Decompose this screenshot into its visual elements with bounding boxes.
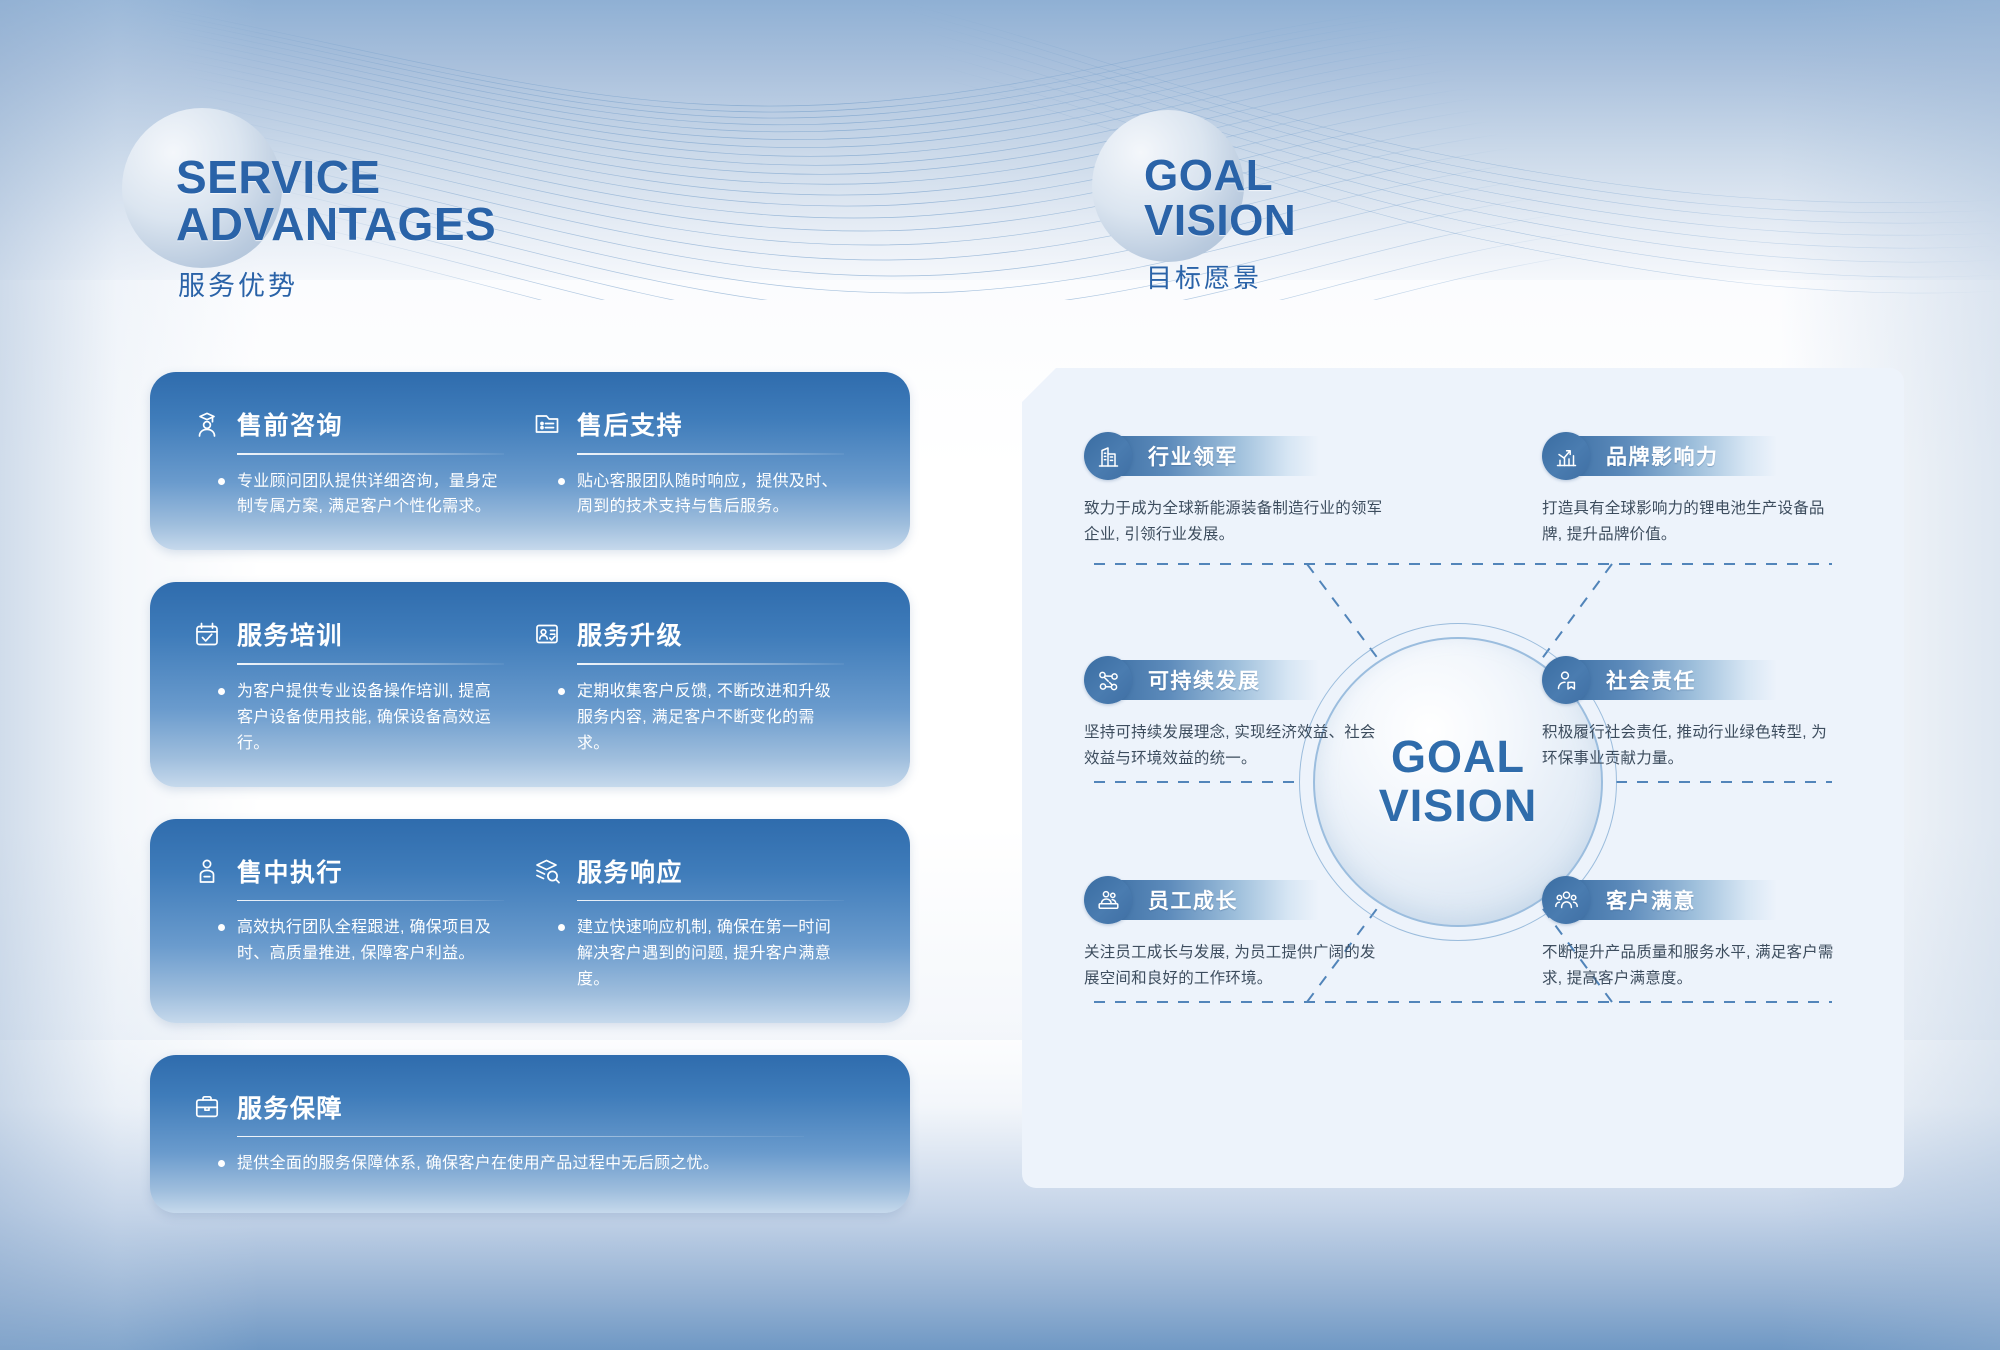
heading-english: SERVICE ADVANTAGES xyxy=(150,140,670,248)
vision-node-desc: 积极履行社会责任, 推动行业绿色转型, 为环保事业贡献力量。 xyxy=(1542,720,1842,772)
title-underline xyxy=(237,1136,804,1138)
service-item-title: 售中执行 xyxy=(237,853,343,889)
service-item-header: 服务升级 xyxy=(530,616,844,652)
id-card-check-icon xyxy=(530,617,564,651)
bullet-dot xyxy=(218,478,225,485)
goal-vision-panel: GOAL VISION 行业领军 致力于成为全球新能源装备制造行业的领军 xyxy=(1022,368,1904,1188)
vision-node-desc: 致力于成为全球新能源装备制造行业的领军企业, 引领行业发展。 xyxy=(1084,496,1384,548)
service-item-body: 建立快速响应机制, 确保在第一时间解决客户遇到的问题, 提升客户满意度。 xyxy=(530,915,844,993)
service-item-title: 服务升级 xyxy=(577,616,683,652)
heading-en-line1: SERVICE xyxy=(176,151,381,203)
service-item-body: 贴心客服团队随时响应，提供及时、周到的技术支持与售后服务。 xyxy=(530,469,844,521)
title-underline xyxy=(577,900,844,902)
vision-node-desc: 关注员工成长与发展, 为员工提供广阔的发展空间和良好的工作环境。 xyxy=(1084,940,1384,992)
title-underline xyxy=(577,453,844,455)
service-item-title: 售前咨询 xyxy=(237,406,343,442)
service-item-text: 提供全面的服务保障体系, 确保客户在使用产品过程中无后顾之忧。 xyxy=(237,1151,719,1177)
core-line1: GOAL xyxy=(1391,733,1525,782)
service-item[interactable]: 服务保障 提供全面的服务保障体系, 确保客户在使用产品过程中无后顾之忧。 xyxy=(190,1089,870,1177)
service-item-title: 服务保障 xyxy=(237,1089,343,1125)
vision-node-label: 员工成长 xyxy=(1148,885,1238,915)
vision-node-sustainable-development[interactable]: 可持续发展 坚持可持续发展理念, 实现经济效益、社会效益与环境效益的统一。 xyxy=(1084,656,1384,772)
briefcase-icon xyxy=(190,1090,224,1124)
service-item-header: 服务响应 xyxy=(530,853,844,889)
service-item-text: 高效执行团队全程跟进, 确保项目及时、高质量推进, 保障客户利益。 xyxy=(237,915,504,967)
bullet-dot xyxy=(218,1160,225,1167)
vision-node-badge: 客户满意 xyxy=(1542,876,1842,924)
people-growth-icon xyxy=(1084,876,1132,924)
vision-node-label: 行业领军 xyxy=(1148,441,1238,471)
heading-en-line1: GOAL xyxy=(1144,151,1273,200)
three-people-icon xyxy=(1542,876,1590,924)
service-advantages-heading: SERVICE ADVANTAGES 服务优势 xyxy=(150,140,670,330)
heading-en-line2: VISION xyxy=(1144,199,1598,244)
service-item-body: 为客户提供专业设备操作培训, 提高客户设备使用技能, 确保设备高效运行。 xyxy=(190,679,504,757)
goal-vision-diagram: GOAL VISION 行业领军 致力于成为全球新能源装备制造行业的领军 xyxy=(1022,368,1904,1188)
graduate-person-icon xyxy=(190,407,224,441)
service-card[interactable]: 售前咨询 专业顾问团队提供详细咨询，量身定制专属方案, 满足客户个性化需求。 xyxy=(150,372,910,550)
service-item-title: 售后支持 xyxy=(577,406,683,442)
vision-node-label: 客户满意 xyxy=(1606,885,1696,915)
document-list-icon xyxy=(530,407,564,441)
title-underline xyxy=(237,663,504,665)
core-line2: VISION xyxy=(1379,782,1538,831)
heading-chinese: 服务优势 xyxy=(150,248,670,303)
vision-node-customer-satisfaction[interactable]: 客户满意 不断提升产品质量和服务水平, 满足客户需求, 提高客户满意度。 xyxy=(1542,876,1842,992)
service-advantage-card-list: 售前咨询 专业顾问团队提供详细咨询，量身定制专属方案, 满足客户个性化需求。 xyxy=(150,372,910,1245)
layers-search-icon xyxy=(530,854,564,888)
bullet-dot xyxy=(558,688,565,695)
service-item-body: 定期收集客户反馈, 不断改进和升级服务内容, 满足客户不断变化的需求。 xyxy=(530,679,844,757)
vision-node-social-responsibility[interactable]: 社会责任 积极履行社会责任, 推动行业绿色转型, 为环保事业贡献力量。 xyxy=(1542,656,1842,772)
vision-node-label: 品牌影响力 xyxy=(1606,441,1719,471)
vision-node-badge: 行业领军 xyxy=(1084,432,1384,480)
title-underline xyxy=(577,663,844,665)
service-item-title: 服务培训 xyxy=(237,616,343,652)
vision-node-employee-growth[interactable]: 员工成长 关注员工成长与发展, 为员工提供广阔的发展空间和良好的工作环境。 xyxy=(1084,876,1384,992)
vision-node-industry-leader[interactable]: 行业领军 致力于成为全球新能源装备制造行业的领军企业, 引领行业发展。 xyxy=(1084,432,1384,548)
service-item[interactable]: 售中执行 高效执行团队全程跟进, 确保项目及时、高质量推进, 保障客户利益。 xyxy=(190,853,530,993)
service-item-text: 贴心客服团队随时响应，提供及时、周到的技术支持与售后服务。 xyxy=(577,469,844,521)
vision-node-label: 社会责任 xyxy=(1606,665,1696,695)
heading-english: GOAL VISION xyxy=(1118,140,1598,244)
building-icon xyxy=(1084,432,1132,480)
vision-node-label: 可持续发展 xyxy=(1148,665,1261,695)
person-podium-icon xyxy=(190,854,224,888)
bullet-dot xyxy=(558,478,565,485)
service-card[interactable]: 服务保障 提供全面的服务保障体系, 确保客户在使用产品过程中无后顾之忧。 xyxy=(150,1055,910,1213)
service-item-title: 服务响应 xyxy=(577,853,683,889)
service-item-text: 定期收集客户反馈, 不断改进和升级服务内容, 满足客户不断变化的需求。 xyxy=(577,679,844,757)
service-item-header: 售前咨询 xyxy=(190,406,504,442)
service-card[interactable]: 售中执行 高效执行团队全程跟进, 确保项目及时、高质量推进, 保障客户利益。 xyxy=(150,819,910,1023)
goal-vision-heading: GOAL VISION 目标愿景 xyxy=(1118,140,1598,330)
service-item-text: 专业顾问团队提供详细咨询，量身定制专属方案, 满足客户个性化需求。 xyxy=(237,469,504,521)
calendar-check-icon xyxy=(190,617,224,651)
service-item[interactable]: 售后支持 贴心客服团队随时响应，提供及时、周到的技术支持与售后服务。 xyxy=(530,406,870,520)
vision-node-badge: 品牌影响力 xyxy=(1542,432,1842,480)
person-badge-icon xyxy=(1542,656,1590,704)
service-item-header: 服务培训 xyxy=(190,616,504,652)
service-item-body: 高效执行团队全程跟进, 确保项目及时、高质量推进, 保障客户利益。 xyxy=(190,915,504,967)
title-underline xyxy=(237,900,504,902)
bar-chart-arrow-icon xyxy=(1542,432,1590,480)
network-nodes-icon xyxy=(1084,656,1132,704)
vision-node-badge: 社会责任 xyxy=(1542,656,1842,704)
service-item-header: 售后支持 xyxy=(530,406,844,442)
service-item-body: 专业顾问团队提供详细咨询，量身定制专属方案, 满足客户个性化需求。 xyxy=(190,469,504,521)
vision-node-badge: 员工成长 xyxy=(1084,876,1384,924)
service-item-text: 为客户提供专业设备操作培训, 提高客户设备使用技能, 确保设备高效运行。 xyxy=(237,679,504,757)
service-item-text: 建立快速响应机制, 确保在第一时间解决客户遇到的问题, 提升客户满意度。 xyxy=(577,915,844,993)
service-item[interactable]: 服务升级 定期收集客户反馈, 不断改进和升级服务内容, 满足客户不断变化的需求。 xyxy=(530,616,870,756)
service-item-body: 提供全面的服务保障体系, 确保客户在使用产品过程中无后顾之忧。 xyxy=(190,1151,844,1177)
bullet-dot xyxy=(218,924,225,931)
vision-node-badge: 可持续发展 xyxy=(1084,656,1384,704)
vision-node-brand-influence[interactable]: 品牌影响力 打造具有全球影响力的锂电池生产设备品牌, 提升品牌价值。 xyxy=(1542,432,1842,548)
service-item-header: 售中执行 xyxy=(190,853,504,889)
title-underline xyxy=(237,453,504,455)
vision-node-desc: 打造具有全球影响力的锂电池生产设备品牌, 提升品牌价值。 xyxy=(1542,496,1842,548)
bullet-dot xyxy=(218,688,225,695)
heading-chinese: 目标愿景 xyxy=(1118,244,1598,295)
service-item-header: 服务保障 xyxy=(190,1089,844,1125)
service-item[interactable]: 售前咨询 专业顾问团队提供详细咨询，量身定制专属方案, 满足客户个性化需求。 xyxy=(190,406,530,520)
service-card[interactable]: 服务培训 为客户提供专业设备操作培训, 提高客户设备使用技能, 确保设备高效运行… xyxy=(150,582,910,786)
bullet-dot xyxy=(558,924,565,931)
vision-node-desc: 不断提升产品质量和服务水平, 满足客户需求, 提高客户满意度。 xyxy=(1542,940,1842,992)
service-item[interactable]: 服务培训 为客户提供专业设备操作培训, 提高客户设备使用技能, 确保设备高效运行… xyxy=(190,616,530,756)
service-item[interactable]: 服务响应 建立快速响应机制, 确保在第一时间解决客户遇到的问题, 提升客户满意度… xyxy=(530,853,870,993)
vision-node-desc: 坚持可持续发展理念, 实现经济效益、社会效益与环境效益的统一。 xyxy=(1084,720,1384,772)
heading-en-line2: ADVANTAGES xyxy=(176,201,670,248)
